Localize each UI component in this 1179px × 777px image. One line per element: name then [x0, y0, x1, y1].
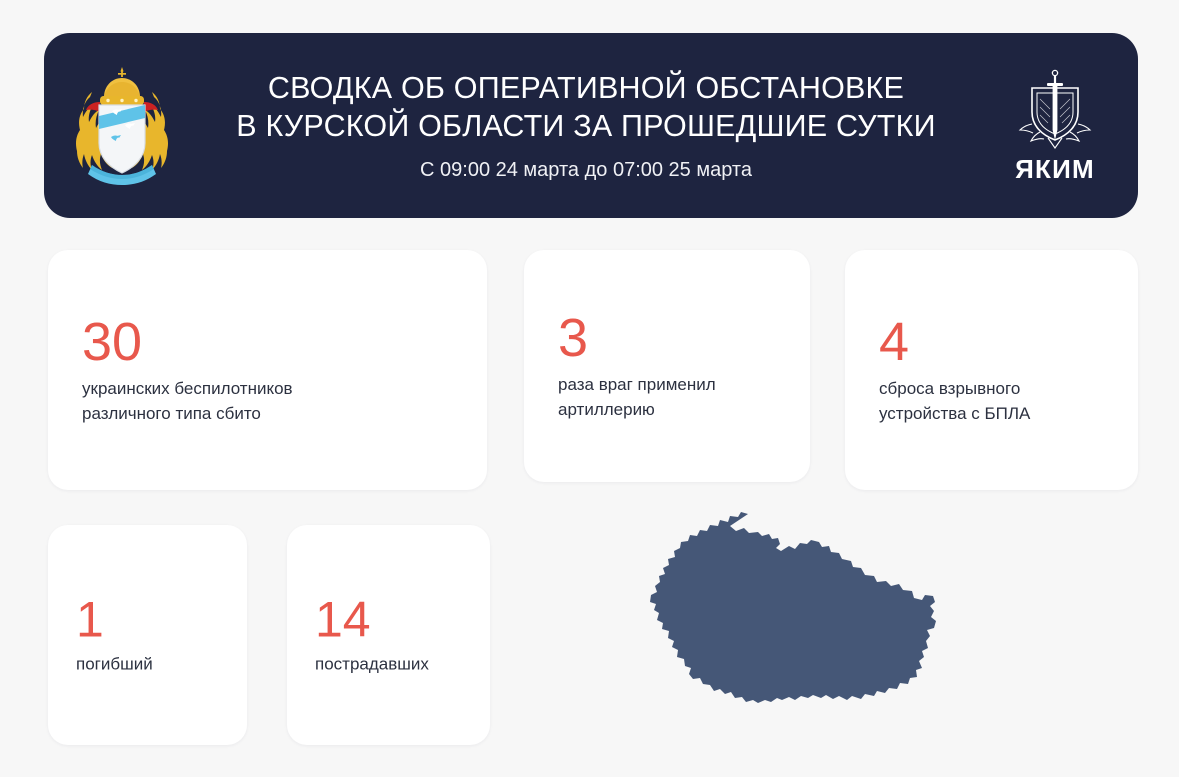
stat-card-killed: 1 погибший: [48, 525, 247, 745]
header-text-block: СВОДКА ОБ ОПЕРАТИВНОЙ ОБСТАНОВКЕ В КУРСК…: [178, 69, 994, 183]
kursk-oblast-coat-of-arms-icon: [66, 61, 178, 191]
stat-label: пострадавших: [315, 652, 476, 677]
stat-value: 1: [76, 594, 233, 646]
stat-card-content: 4 сброса взрывного устройства с БПЛА: [879, 314, 1118, 426]
stat-card-content: 1 погибший: [76, 594, 233, 677]
shield-sword-icon: [1018, 66, 1092, 152]
stat-card-drones: 30 украинских беспилотников различного т…: [48, 250, 487, 490]
stat-card-content: 14 пострадавших: [315, 594, 476, 677]
kursk-oblast-map: [630, 512, 1040, 760]
stat-value: 3: [558, 310, 790, 366]
stat-card-injured: 14 пострадавших: [287, 525, 490, 745]
stat-value: 4: [879, 314, 1118, 370]
page-title: СВОДКА ОБ ОПЕРАТИВНОЙ ОБСТАНОВКЕ В КУРСК…: [184, 69, 988, 145]
stat-card-content: 3 раза враг применил артиллерию: [558, 310, 790, 422]
kursk-oblast-map-icon: [630, 512, 1040, 760]
yakim-logo: ЯКИМ: [994, 66, 1116, 185]
yakim-logo-text: ЯКИМ: [1015, 154, 1095, 185]
report-period: С 09:00 24 марта до 07:00 25 марта: [184, 157, 988, 183]
stat-value: 14: [315, 594, 476, 646]
stat-label: украинских беспилотников различного типа…: [82, 376, 467, 426]
header-banner: СВОДКА ОБ ОПЕРАТИВНОЙ ОБСТАНОВКЕ В КУРСК…: [44, 33, 1138, 218]
stat-value: 30: [82, 314, 467, 370]
stat-label: раза враг применил артиллерию: [558, 372, 790, 422]
stat-card-content: 30 украинских беспилотников различного т…: [82, 314, 467, 426]
stat-card-explosive-drops: 4 сброса взрывного устройства с БПЛА: [845, 250, 1138, 490]
stat-card-artillery: 3 раза враг применил артиллерию: [524, 250, 810, 482]
stat-label: сброса взрывного устройства с БПЛА: [879, 376, 1118, 426]
stat-label: погибший: [76, 652, 233, 677]
